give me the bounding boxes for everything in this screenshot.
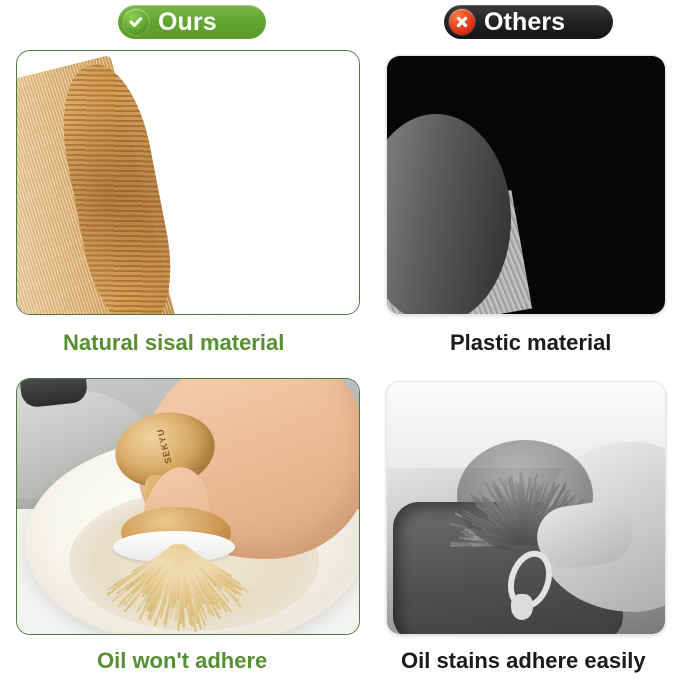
ours-badge: Ours bbox=[118, 5, 266, 39]
ours-oil-cell: SEKYU bbox=[16, 378, 360, 635]
sisal-bristles-shape bbox=[77, 50, 360, 315]
brush-bristles-shape bbox=[125, 545, 231, 633]
ours-material-caption: Natural sisal material bbox=[63, 332, 284, 354]
others-oil-image-card bbox=[386, 381, 666, 635]
others-badge-label: Others bbox=[484, 10, 565, 35]
x-circle-icon bbox=[449, 9, 475, 35]
ours-material-cell bbox=[16, 50, 360, 315]
others-badge: Others bbox=[444, 5, 613, 39]
check-circle-icon bbox=[123, 9, 149, 35]
brush-brand-text: SEKYU bbox=[155, 427, 173, 464]
plastic-bristles-shape bbox=[445, 55, 666, 315]
others-material-caption: Plastic material bbox=[450, 332, 611, 354]
others-oil-caption: Oil stains adhere easily bbox=[401, 650, 646, 672]
ours-oil-caption: Oil won't adhere bbox=[97, 650, 267, 672]
comparison-infographic: Ours Others Natural sisal material bbox=[0, 0, 679, 681]
dirty-brush-photo bbox=[387, 382, 665, 634]
others-material-cell bbox=[386, 55, 666, 315]
others-oil-cell bbox=[386, 381, 666, 635]
dish-washing-photo: SEKYU bbox=[17, 379, 359, 634]
ours-oil-image-card: SEKYU bbox=[16, 378, 360, 635]
plastic-brush-photo bbox=[387, 56, 665, 314]
ours-material-image-card bbox=[16, 50, 360, 315]
rope-loop-shape bbox=[495, 550, 555, 628]
others-material-image-card bbox=[386, 55, 666, 315]
ours-badge-label: Ours bbox=[158, 10, 217, 35]
sisal-brush-photo bbox=[17, 51, 359, 314]
